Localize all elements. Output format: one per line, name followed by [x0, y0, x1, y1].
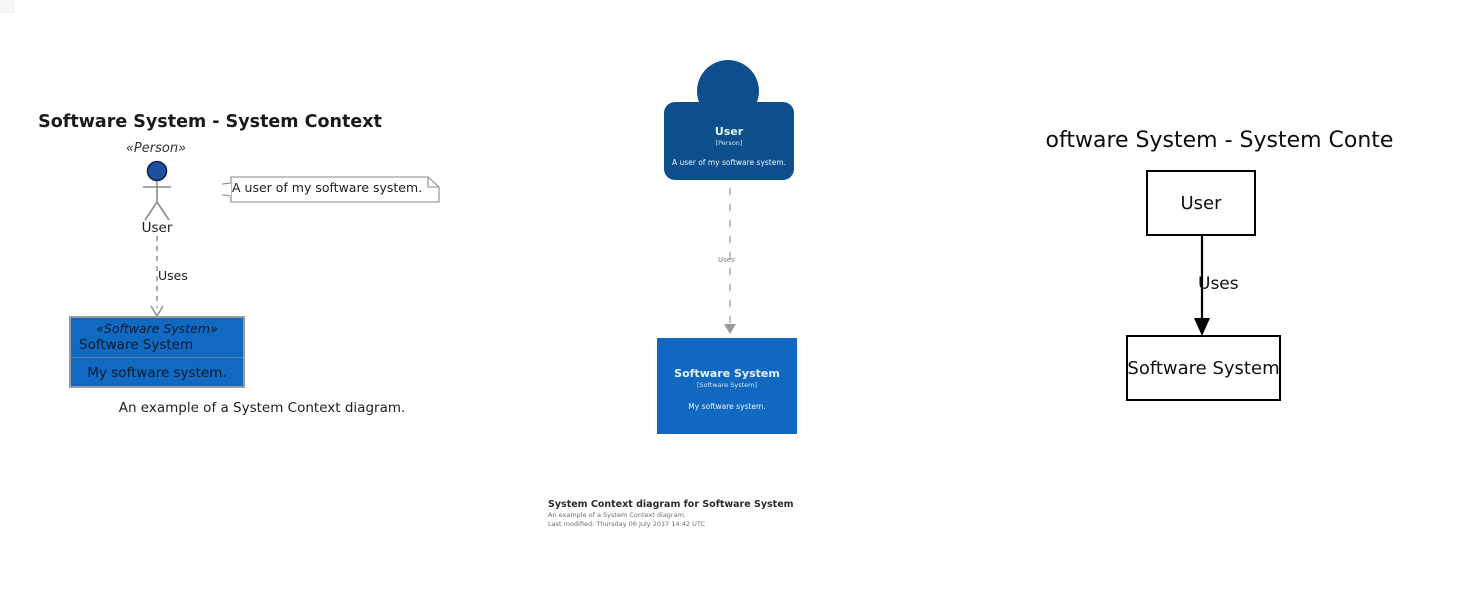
- c4-system-description: My software system.: [688, 402, 765, 412]
- c4-system-name: Software System: [674, 367, 780, 380]
- actor-stick-figure-icon: [136, 160, 178, 222]
- uml-diagram-title: Software System - System Context: [0, 112, 420, 132]
- uml-note-text: A user of my software system.: [232, 180, 428, 195]
- c4-footer-title: System Context diagram for Software Syst…: [548, 498, 948, 511]
- plain-system-label: Software System: [1127, 358, 1279, 379]
- uml-person-stereotype: «Person»: [0, 141, 312, 156]
- uml-system-name: Software System: [71, 337, 243, 354]
- uml-system-box-header: «Software System» Software System: [71, 318, 243, 358]
- plain-user-label: User: [1180, 193, 1221, 214]
- uml-system-box-body: My software system.: [71, 358, 243, 388]
- c4-person-name: User: [715, 125, 743, 138]
- c4-person-body: User [Person] A user of my software syst…: [664, 102, 794, 180]
- uml-system-description: My software system.: [87, 365, 226, 381]
- uml-diagram-caption: An example of a System Context diagram.: [0, 400, 524, 416]
- plain-diagram-title: oftware System - System Conte: [972, 128, 1459, 153]
- uml-system-box: «Software System» Software System My sof…: [69, 316, 245, 388]
- c4-system-type: [Software System]: [697, 380, 757, 390]
- uml-system-stereotype: «Software System»: [71, 321, 243, 337]
- plain-relationship-label: Uses: [1198, 274, 1239, 294]
- c4-person-shape-icon: User [Person] A user of my software syst…: [664, 60, 794, 190]
- plain-user-box: User: [1146, 170, 1256, 236]
- c4-diagram-panel: User [Person] A user of my software syst…: [500, 0, 980, 596]
- c4-relationship-label: Uses: [718, 256, 735, 264]
- plain-system-box: Software System: [1126, 335, 1281, 401]
- c4-footer-last-modified: Last modified: Thursday 06 July 2017 14:…: [548, 520, 948, 529]
- uml-person-note: A user of my software system.: [222, 176, 440, 203]
- c4-system-box: Software System [Software System] My sof…: [657, 338, 797, 434]
- c4-person-description: A user of my software system.: [672, 158, 786, 168]
- uml-diagram-panel: Software System - System Context «Person…: [0, 0, 500, 596]
- plain-diagram-panel: oftware System - System Conte User Uses …: [980, 0, 1459, 596]
- diagram-comparison-canvas: Software System - System Context «Person…: [0, 0, 1459, 596]
- uml-person-name: User: [96, 220, 218, 236]
- c4-person-type: [Person]: [716, 138, 743, 148]
- c4-footer-subtitle: An example of a System Context diagram.: [548, 511, 948, 520]
- uml-relationship-label: Uses: [158, 268, 188, 283]
- c4-diagram-footer: System Context diagram for Software Syst…: [548, 498, 948, 529]
